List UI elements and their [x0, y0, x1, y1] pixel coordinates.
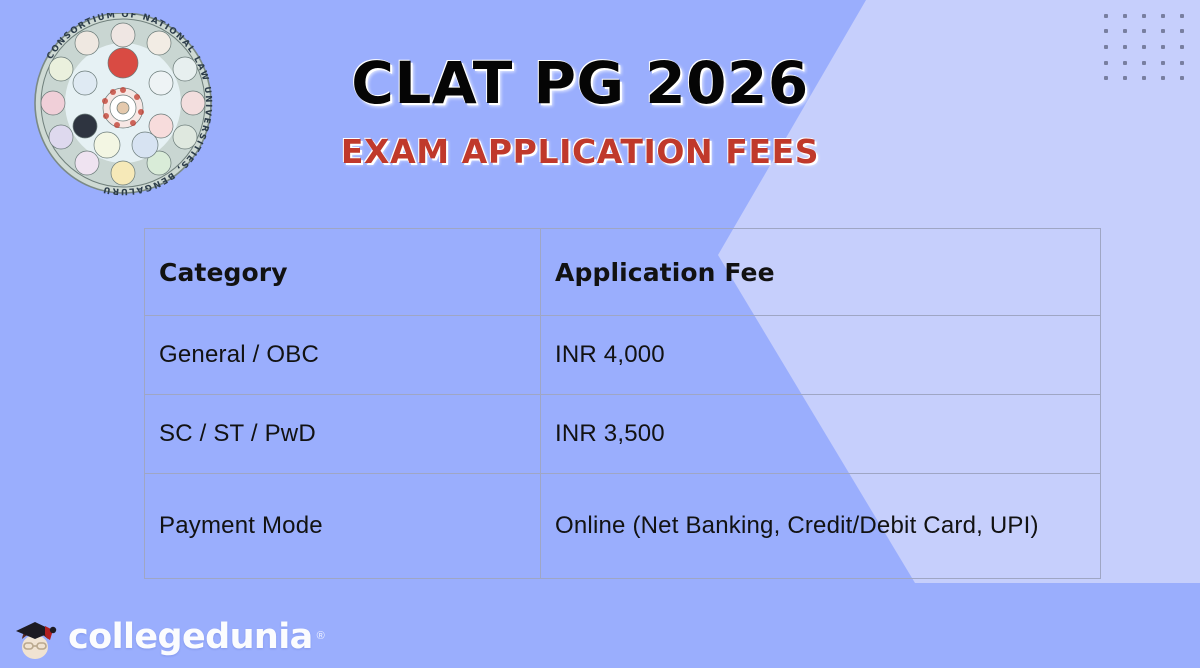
heading-block: CLAT PG 2026 EXAM APPLICATION FEES — [230, 52, 930, 171]
clat-consortium-logo-icon: CONSORTIUM OF NATIONAL LAW UNIVERSITIES,… — [21, 13, 226, 196]
dot — [1180, 45, 1184, 49]
dot — [1161, 14, 1165, 18]
dot — [1161, 61, 1165, 65]
dot — [1180, 14, 1184, 18]
dot — [1142, 14, 1146, 18]
table-row: SC / ST / PwD INR 3,500 — [145, 395, 1101, 474]
fee-info-poster: CONSORTIUM OF NATIONAL LAW UNIVERSITIES,… — [0, 0, 1200, 668]
table-header-row: Category Application Fee — [145, 229, 1101, 316]
dot — [1104, 61, 1108, 65]
collegedunia-watermark: collegedunia ® — [12, 614, 325, 660]
dot — [1142, 29, 1146, 33]
dot — [1180, 76, 1184, 80]
dot — [1180, 61, 1184, 65]
dot — [1104, 76, 1108, 80]
dot — [1104, 29, 1108, 33]
dot — [1161, 29, 1165, 33]
cell-category: SC / ST / PwD — [145, 395, 541, 474]
dot — [1123, 61, 1127, 65]
dot — [1123, 45, 1127, 49]
dot-grid-decoration — [1096, 8, 1192, 86]
dot — [1161, 76, 1165, 80]
dot — [1123, 14, 1127, 18]
table-row: General / OBC INR 4,000 — [145, 316, 1101, 395]
page-title: CLAT PG 2026 — [230, 52, 930, 115]
dot — [1142, 76, 1146, 80]
dot — [1180, 29, 1184, 33]
cell-fee: INR 4,000 — [541, 316, 1101, 395]
column-header-category: Category — [145, 229, 541, 316]
dot — [1104, 14, 1108, 18]
dot — [1104, 45, 1108, 49]
dot — [1123, 29, 1127, 33]
cell-fee: INR 3,500 — [541, 395, 1101, 474]
application-fee-table: Category Application Fee General / OBC I… — [144, 228, 1101, 579]
dot — [1123, 76, 1127, 80]
trademark-symbol: ® — [317, 630, 325, 642]
cell-category: Payment Mode — [145, 474, 541, 579]
cell-category: General / OBC — [145, 316, 541, 395]
page-subtitle: EXAM APPLICATION FEES — [230, 132, 930, 171]
cell-fee: Online (Net Banking, Credit/Debit Card, … — [541, 474, 1101, 579]
dot — [1142, 45, 1146, 49]
table-row: Payment Mode Online (Net Banking, Credit… — [145, 474, 1101, 579]
column-header-application-fee: Application Fee — [541, 229, 1101, 316]
brand-name: collegedunia — [68, 617, 313, 657]
dot — [1161, 45, 1165, 49]
graduate-mascot-icon — [12, 614, 58, 660]
dot — [1142, 61, 1146, 65]
